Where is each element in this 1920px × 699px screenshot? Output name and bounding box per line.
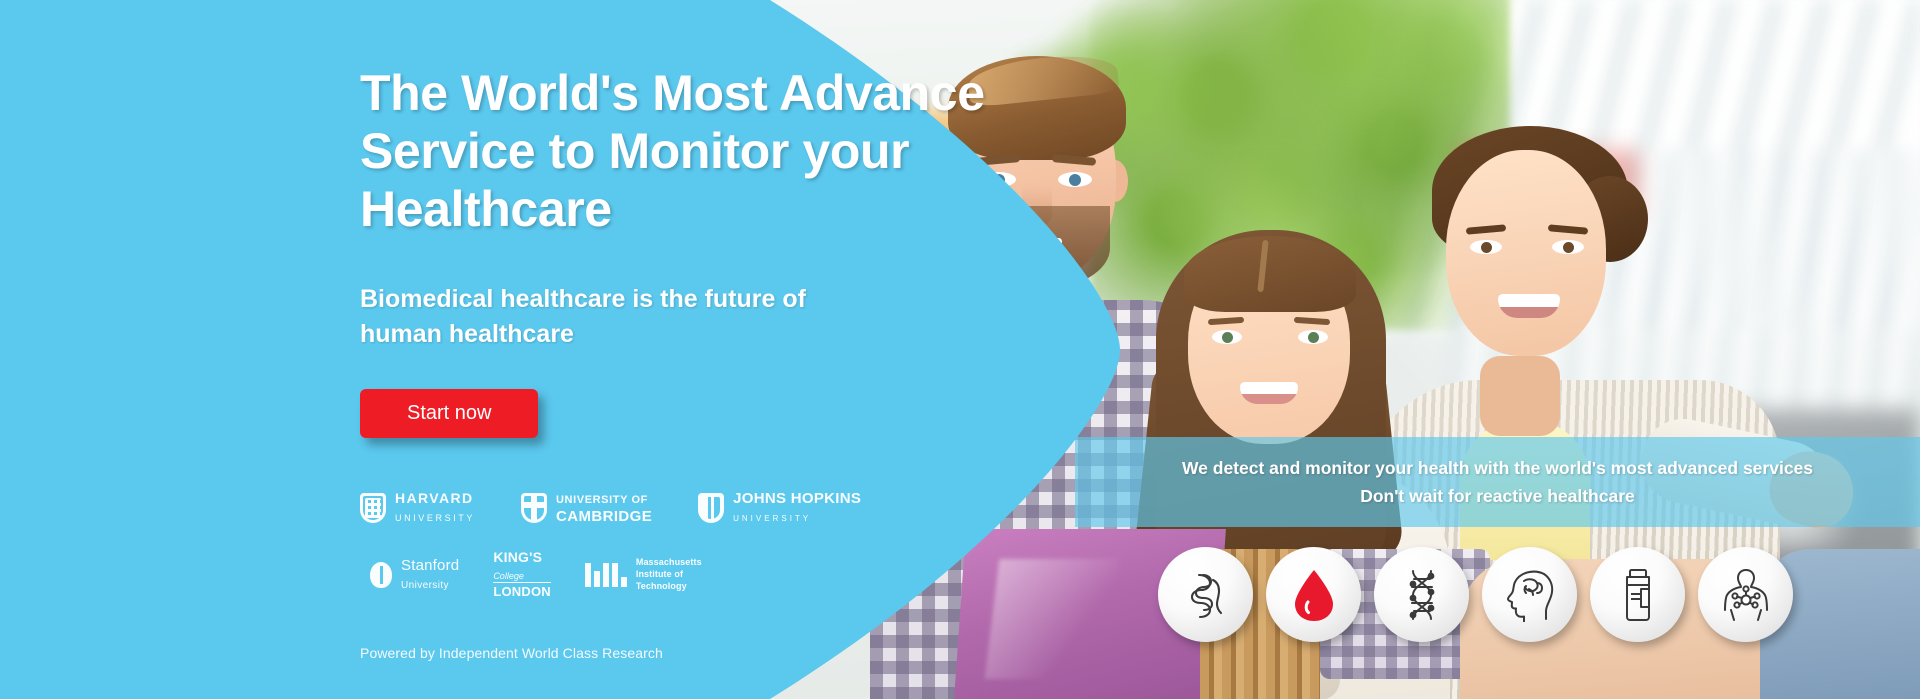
page-title: The World's Most Advance Service to Moni…: [360, 64, 1060, 238]
girl-mouth: [1240, 382, 1298, 404]
stanford-logo-line1: Stanford: [401, 557, 459, 574]
mit-logo-line1: Massachusetts: [636, 557, 702, 567]
johns-hopkins-shield-icon: [698, 493, 724, 523]
body-molecule-icon: [1720, 567, 1772, 623]
mit-logo-line2: Institute of: [636, 569, 683, 579]
banner-line-1: We detect and monitor your health with t…: [1182, 458, 1813, 479]
intestine-icon-badge[interactable]: [1158, 547, 1253, 642]
stanford-logo-line2: University: [401, 580, 449, 591]
girl-pupil-left: [1222, 332, 1233, 343]
mit-logo-line3: Technology: [636, 581, 687, 591]
logo-row-1: HARVARD UNIVERSITY UNIVERSITY OF CAMBRID…: [360, 490, 1080, 526]
powered-by-text: Powered by Independent World Class Resea…: [360, 645, 1080, 661]
logo-row-2: Stanford University KING'S College LONDO…: [360, 550, 1080, 601]
girl-hair-top: [1184, 236, 1356, 312]
kings-college-london-logo: KING'S College LONDON: [493, 550, 551, 601]
kcl-logo-line3: LONDON: [493, 582, 551, 599]
university-logos: HARVARD UNIVERSITY UNIVERSITY OF CAMBRID…: [360, 490, 1080, 601]
brain-head-icon-badge[interactable]: [1482, 547, 1577, 642]
overlay-banner: We detect and monitor your health with t…: [1075, 437, 1920, 527]
kcl-logo-line2: College: [493, 571, 524, 581]
harvard-logo-line2: UNIVERSITY: [395, 513, 475, 523]
mother-mouth: [1498, 294, 1560, 318]
cambridge-logo-line1: UNIVERSITY OF: [556, 494, 648, 506]
blood-drop-icon-badge[interactable]: [1266, 547, 1361, 642]
university-of-cambridge-logo: UNIVERSITY OF CAMBRIDGE: [521, 490, 652, 526]
dna-icon-badge[interactable]: [1374, 547, 1469, 642]
johns-hopkins-logo-line2: UNIVERSITY: [733, 514, 811, 523]
harvard-university-logo: HARVARD UNIVERSITY: [360, 490, 475, 526]
supplement-bottle-icon-badge[interactable]: [1590, 547, 1685, 642]
hero-content: The World's Most Advance Service to Moni…: [360, 64, 1080, 661]
hero-subtitle: Biomedical healthcare is the future of h…: [360, 282, 890, 351]
hero-banner: The World's Most Advance Service to Moni…: [0, 0, 1920, 699]
kcl-logo-line1: KING'S: [493, 549, 542, 565]
mother-neck: [1480, 356, 1560, 436]
harvard-logo-line1: HARVARD: [395, 490, 474, 506]
harvard-shield-icon: [360, 493, 386, 523]
mother-pupil-left: [1481, 242, 1492, 253]
start-now-button[interactable]: Start now: [360, 389, 538, 438]
stanford-tree-icon: [370, 562, 392, 588]
brain-head-icon: [1502, 568, 1558, 622]
johns-hopkins-logo-line1: JOHNS HOPKINS: [733, 490, 861, 507]
mother-head: [1446, 150, 1606, 356]
johns-hopkins-university-logo: JOHNS HOPKINS UNIVERSITY: [698, 490, 861, 526]
blood-drop-icon: [1289, 567, 1339, 623]
banner-line-2: Don't wait for reactive healthcare: [1360, 486, 1635, 507]
girl-pupil-right: [1308, 332, 1319, 343]
mother-pupil-right: [1563, 242, 1574, 253]
body-molecule-icon-badge[interactable]: [1698, 547, 1793, 642]
stanford-university-logo: Stanford University: [370, 557, 459, 593]
dna-icon: [1397, 567, 1447, 623]
cambridge-shield-icon: [521, 493, 547, 523]
mit-logo: Massachusetts Institute of Technology: [585, 557, 702, 593]
service-icon-row: [1158, 547, 1793, 642]
supplement-bottle-icon: [1616, 567, 1660, 623]
mit-bars-icon: [585, 563, 627, 587]
intestine-icon: [1179, 568, 1233, 622]
cambridge-logo-line2: CAMBRIDGE: [556, 508, 652, 525]
